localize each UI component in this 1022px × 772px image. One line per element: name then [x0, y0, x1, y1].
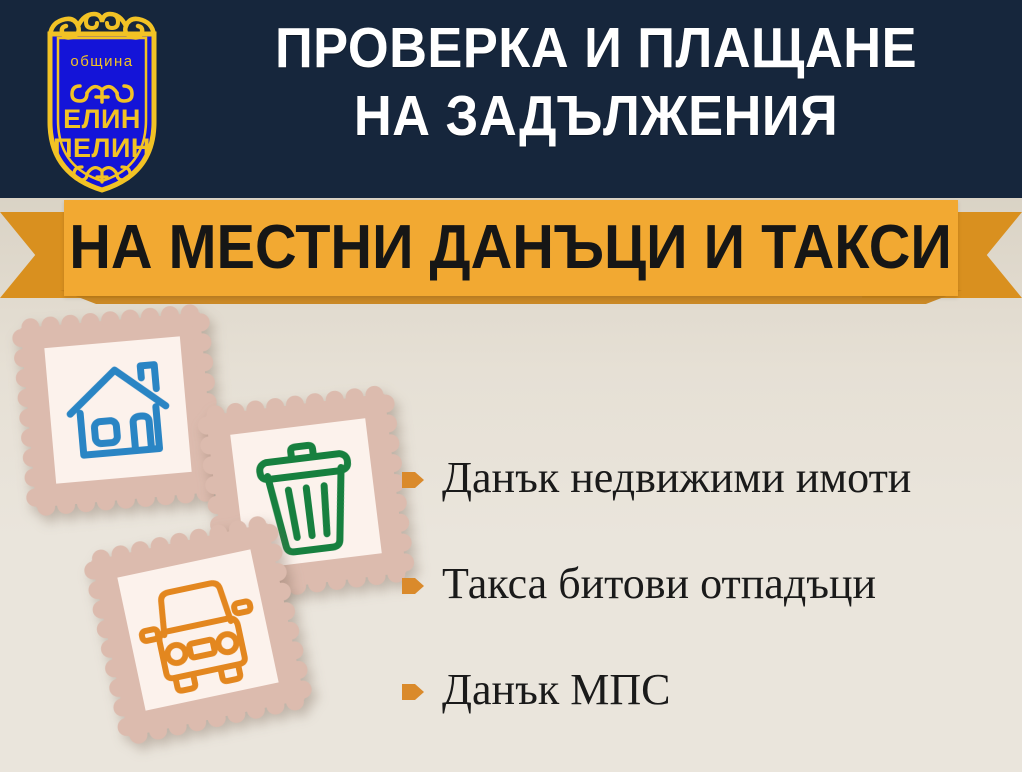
- logo-name-line2: ПЕЛИН: [53, 133, 151, 163]
- list-item[interactable]: Данък недвижими имоти: [400, 425, 1010, 531]
- arrow-bullet-icon: [400, 573, 426, 599]
- tax-type-list: Данък недвижими имоти Такса битови отпад…: [400, 425, 1010, 743]
- list-item-label: Такса битови отпадъци: [442, 560, 876, 608]
- municipality-logo: община ЕЛИН ПЕЛИН: [22, 4, 182, 194]
- stamp-card-vehicle-tax: [82, 514, 314, 746]
- list-item-label: Данък недвижими имоти: [442, 454, 911, 502]
- subtitle-ribbon: НА МЕСТНИ ДАНЪЦИ И ТАКСИ: [0, 198, 1022, 306]
- logo-name-line1: ЕЛИН: [63, 104, 141, 134]
- ribbon-label: НА МЕСТНИ ДАНЪЦИ И ТАКСИ: [70, 217, 953, 279]
- logo-top-word: община: [70, 53, 133, 70]
- poster-root: община ЕЛИН ПЕЛИН: [0, 0, 1022, 772]
- page-title: ПРОВЕРКА И ПЛАЩАНЕ НА ЗАДЪЛЖЕНИЯ: [219, 14, 973, 150]
- arrow-bullet-icon: [400, 679, 426, 705]
- list-item[interactable]: Такса битови отпадъци: [400, 531, 1010, 637]
- stamp-card-property-tax: [12, 304, 224, 516]
- arrow-bullet-icon: [400, 467, 426, 493]
- list-item-label: Данък МПС: [442, 666, 670, 714]
- page-title-line2: НА ЗАДЪЛЖЕНИЯ: [219, 82, 973, 150]
- ribbon-banner: НА МЕСТНИ ДАНЪЦИ И ТАКСИ: [64, 200, 958, 296]
- list-item[interactable]: Данък МПС: [400, 637, 1010, 743]
- header-bar: община ЕЛИН ПЕЛИН: [0, 0, 1022, 198]
- page-title-line1: ПРОВЕРКА И ПЛАЩАНЕ: [219, 14, 973, 82]
